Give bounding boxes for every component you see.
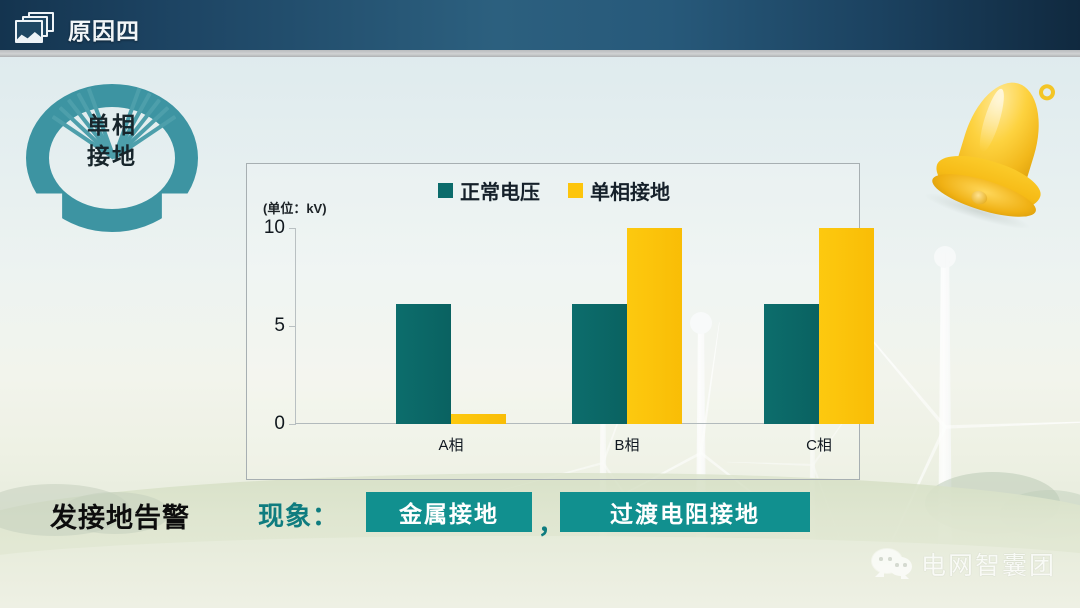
watermark-text: 电网智囊团	[921, 546, 1056, 582]
y-tick	[289, 228, 296, 229]
y-tick-label: 5	[274, 315, 285, 337]
watermark: 电网智囊团	[872, 546, 1056, 582]
bar-正常电压-C相	[764, 304, 819, 424]
caption-row: 发接地告警 现象： 金属接地 ， 过渡电阻接地	[0, 492, 1080, 546]
x-axis-label: A相	[438, 434, 463, 455]
y-tick	[289, 424, 296, 425]
x-axis-label: B相	[614, 434, 639, 455]
alarm-text: 发接地告警	[50, 496, 190, 535]
y-tick-label: 0	[274, 413, 285, 435]
wechat-icon	[872, 549, 912, 579]
legend-swatch-single-phase-ground	[568, 183, 583, 198]
badge-label-line1: 单相	[26, 110, 198, 141]
badge-label-line2: 接地	[26, 141, 198, 172]
bar-单相接地-A相	[451, 414, 506, 424]
legend-swatch-normal-voltage	[438, 183, 453, 198]
page-title: 原因四	[68, 12, 140, 46]
slide-root: 原因四	[0, 0, 1080, 608]
chart-legend: 正常电压 单相接地	[247, 176, 861, 205]
legend-label-normal-voltage: 正常电压	[460, 176, 540, 205]
chart-plot-area: 0510 A相B相C相	[295, 228, 840, 424]
legend-item-normal-voltage: 正常电压	[438, 176, 540, 205]
bar-正常电压-A相	[396, 304, 451, 424]
voltage-bar-chart: 正常电压 单相接地 (单位：kV) 0510 A相B相C相	[246, 163, 860, 480]
tag-transition-resistance-ground[interactable]: 过渡电阻接地	[560, 492, 810, 532]
chart-unit-label: (单位：kV)	[263, 198, 327, 217]
bar-单相接地-B相	[627, 228, 682, 424]
legend-item-single-phase-ground: 单相接地	[568, 176, 670, 205]
y-tick-label: 10	[264, 217, 285, 239]
y-tick	[289, 326, 296, 327]
x-axis-label: C相	[806, 434, 832, 455]
tag-metallic-ground[interactable]: 金属接地	[366, 492, 532, 532]
badge-label: 单相 接地	[26, 110, 198, 172]
stacked-images-icon	[14, 12, 58, 46]
bar-单相接地-C相	[819, 228, 874, 424]
single-phase-ground-badge: 单相 接地	[26, 84, 198, 232]
header-bar: 原因四	[0, 0, 1080, 57]
bar-正常电压-B相	[572, 304, 627, 424]
phenomenon-label: 现象：	[258, 496, 339, 533]
legend-label-single-phase-ground: 单相接地	[590, 176, 670, 205]
x-axis	[295, 423, 840, 424]
